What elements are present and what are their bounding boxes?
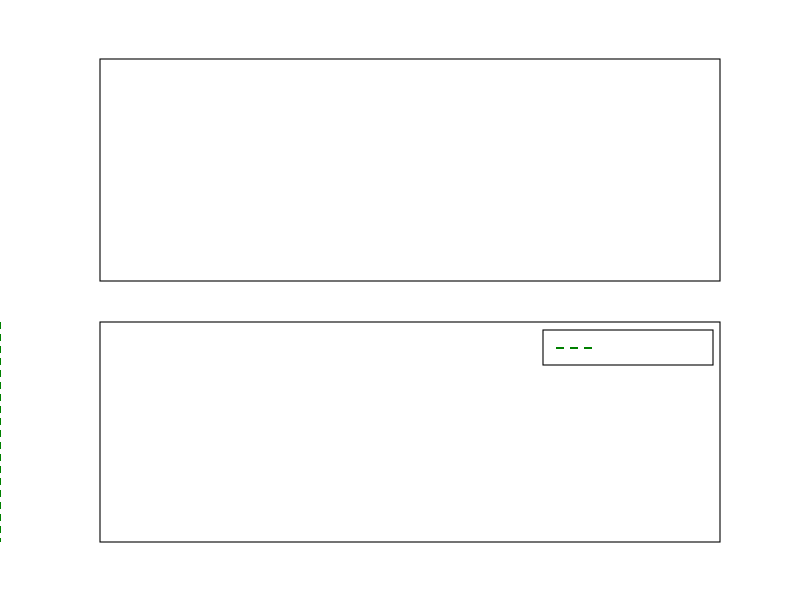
top-plot-area bbox=[100, 59, 720, 281]
top-panel bbox=[100, 59, 720, 281]
bottom-panel bbox=[0, 322, 720, 542]
matplotlib-figure bbox=[0, 0, 800, 600]
legend-box bbox=[543, 330, 713, 365]
legend[interactable] bbox=[543, 330, 713, 365]
figure-canvas bbox=[0, 0, 800, 600]
